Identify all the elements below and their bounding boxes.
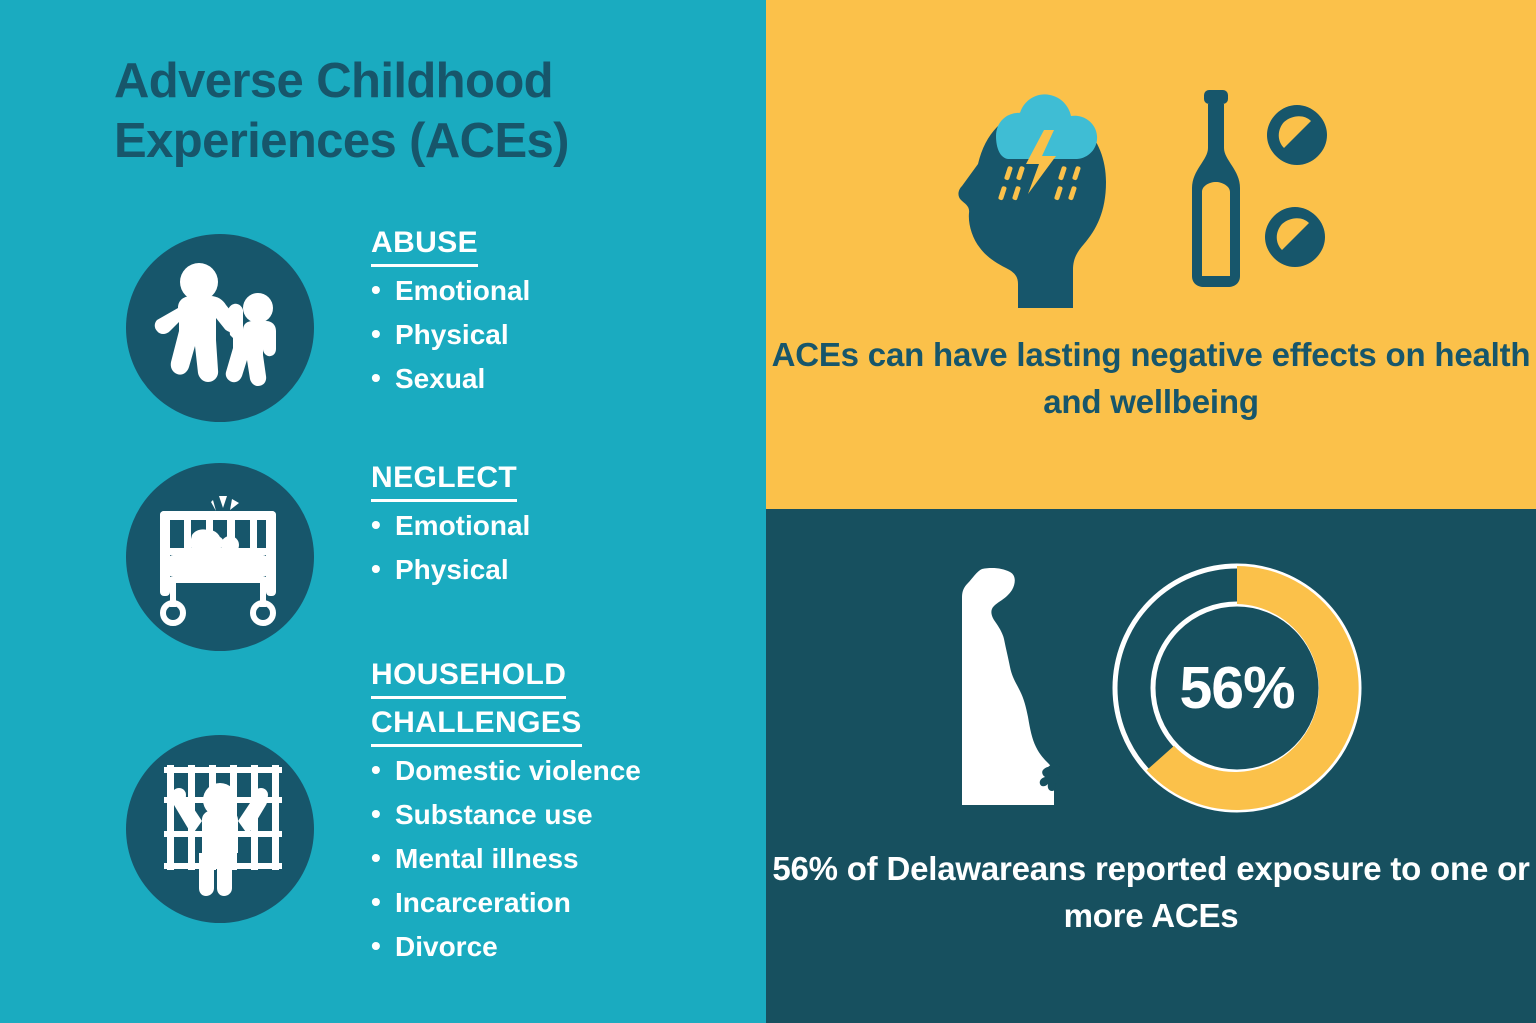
list-item: Domestic violence — [371, 757, 751, 785]
lasting-effects-panel: ACEs can have lasting negative effects o… — [766, 0, 1536, 509]
category-household-heading-line2: CHALLENGES — [371, 708, 751, 747]
effects-icon-group — [766, 78, 1536, 316]
category-household-list: Domestic violence Substance use Mental i… — [371, 757, 751, 961]
crib-crying-baby-icon — [126, 463, 314, 651]
stat-caption: 56% of Delawareans reported exposure to … — [766, 846, 1536, 940]
head-storm-cloud-icon — [956, 78, 1122, 308]
list-item: Emotional — [371, 512, 751, 540]
list-item: Incarceration — [371, 889, 751, 917]
list-item: Divorce — [371, 933, 751, 961]
category-neglect-list: Emotional Physical — [371, 512, 751, 584]
category-abuse-heading: ABUSE — [371, 228, 751, 267]
list-item: Substance use — [371, 801, 751, 829]
delaware-state-map-icon — [944, 557, 1076, 813]
page-title: Adverse Childhood Experiences (ACEs) — [114, 52, 734, 172]
stat-visual-group: 56% — [766, 557, 1536, 819]
list-item: Sexual — [371, 365, 751, 393]
adult-striking-child-icon — [126, 234, 314, 422]
bottle-and-pills-icon — [1178, 86, 1358, 291]
person-behind-bars-icon — [126, 735, 314, 923]
category-household-text: HOUSEHOLD CHALLENGES Domestic violence S… — [371, 660, 751, 977]
delaware-statistic-panel: 56% 56% of Delawareans reported exposure… — [766, 509, 1536, 1023]
list-item: Mental illness — [371, 845, 751, 873]
effects-caption: ACEs can have lasting negative effects o… — [766, 332, 1536, 426]
list-item: Physical — [371, 556, 751, 584]
list-item: Emotional — [371, 277, 751, 305]
category-neglect-text: NEGLECT Emotional Physical — [371, 463, 751, 600]
infographic-root: Adverse Childhood Experiences (ACEs) ABU… — [0, 0, 1536, 1023]
aces-categories-panel: Adverse Childhood Experiences (ACEs) ABU… — [0, 0, 766, 1023]
category-neglect-heading: NEGLECT — [371, 463, 751, 502]
category-abuse-text: ABUSE Emotional Physical Sexual — [371, 228, 751, 409]
category-household-heading-line1: HOUSEHOLD — [371, 660, 751, 699]
list-item: Physical — [371, 321, 751, 349]
donut-center-value: 56% — [1106, 557, 1368, 819]
category-abuse-list: Emotional Physical Sexual — [371, 277, 751, 393]
